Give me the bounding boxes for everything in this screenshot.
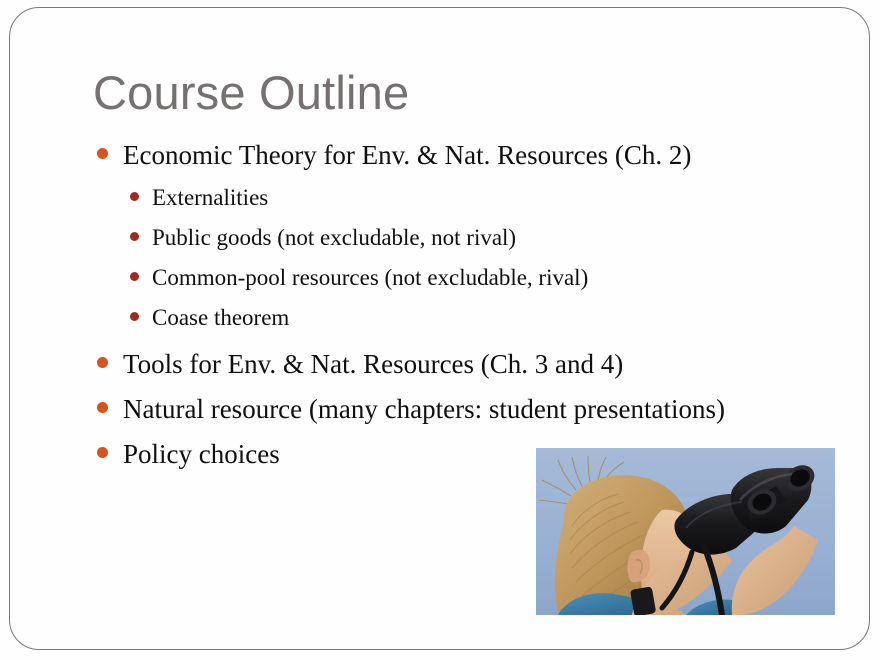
page-title: Course Outline: [93, 68, 409, 119]
bullet-dot-icon: [97, 402, 108, 413]
bullet-dot-icon: [130, 192, 139, 201]
list-item: Common-pool resources (not excludable, r…: [0, 265, 880, 305]
list-item-label: Common-pool resources (not excludable, r…: [152, 265, 588, 291]
bullet-dot-icon: [130, 272, 139, 281]
list-item-label: Coase theorem: [152, 305, 289, 331]
bullet-dot-icon: [97, 148, 108, 159]
bullet-dot-icon: [97, 357, 108, 368]
bullet-dot-icon: [130, 312, 139, 321]
list-item-label: Public goods (not excludable, not rival): [152, 225, 516, 251]
bullet-dot-icon: [130, 232, 139, 241]
presentation-slide: Course Outline Economic Theory for Env. …: [0, 0, 880, 660]
list-item-label: Natural resource (many chapters: student…: [123, 394, 725, 424]
list-item-label: Economic Theory for Env. & Nat. Resource…: [123, 140, 691, 170]
outline-bullet-list: Economic Theory for Env. & Nat. Resource…: [0, 140, 880, 484]
list-item: Public goods (not excludable, not rival): [0, 225, 880, 265]
list-item-label: Tools for Env. & Nat. Resources (Ch. 3 a…: [123, 349, 623, 379]
list-item: Economic Theory for Env. & Nat. Resource…: [0, 140, 880, 185]
bullet-dot-icon: [97, 447, 108, 458]
list-item: Externalities: [0, 185, 880, 225]
list-item-label: Policy choices: [123, 439, 280, 469]
list-item: Natural resource (many chapters: student…: [0, 394, 880, 439]
list-item: Coase theorem: [0, 305, 880, 345]
photo-boy-with-binoculars: [536, 448, 835, 615]
list-item: Tools for Env. & Nat. Resources (Ch. 3 a…: [0, 349, 880, 394]
list-item-label: Externalities: [152, 185, 268, 211]
